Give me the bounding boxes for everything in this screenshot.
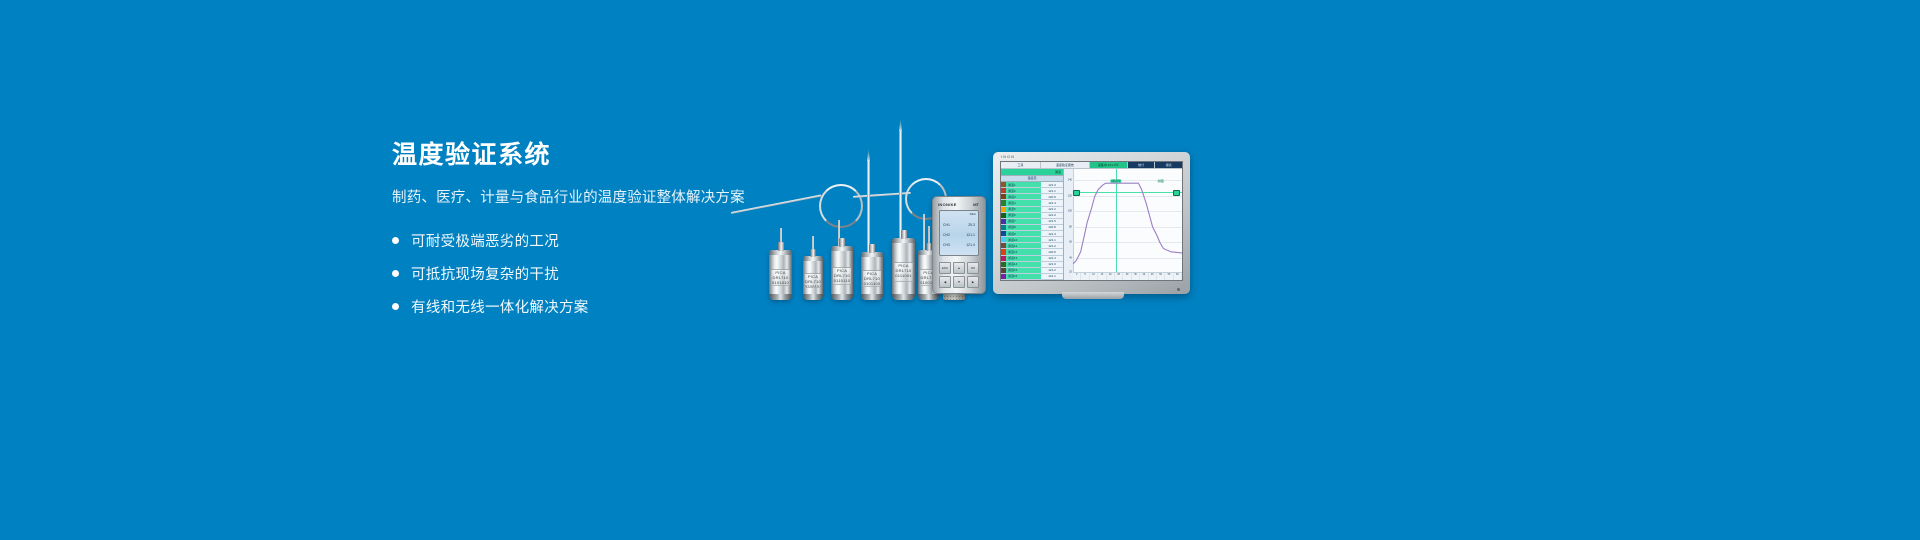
logger-neck bbox=[839, 238, 845, 247]
feature-bullet-label: 可耐受极端恶劣的工况 bbox=[411, 230, 559, 251]
probe-wire bbox=[731, 194, 822, 214]
software-screen: 工具 温度验证报告 采集中-121.0℃ 统计 报表 通道 温度值 通道1121… bbox=[1000, 161, 1183, 281]
logger-neck bbox=[901, 230, 907, 239]
handheld-key-up[interactable]: ▲ bbox=[953, 262, 965, 274]
logger-label: PICA DRL710 0100101 bbox=[805, 273, 821, 288]
channel-name: 通道16 bbox=[1006, 274, 1041, 279]
channel-value: 121.1 bbox=[1041, 274, 1063, 279]
handheld-key-right[interactable]: ▶ bbox=[967, 276, 979, 288]
software-toolbar[interactable]: 工具 温度验证报告 采集中-121.0℃ 统计 报表 bbox=[1001, 162, 1182, 169]
monitor-display: INON 工具 温度验证报告 采集中-121.0℃ 统计 报表 通道 温度值 通… bbox=[993, 152, 1190, 294]
handheld-brand: INONIKE bbox=[938, 202, 957, 207]
bullet-dot-icon bbox=[392, 303, 399, 310]
handheld-row-left: CH1 bbox=[943, 223, 950, 227]
channel-name: 通道1 bbox=[1006, 182, 1041, 187]
channel-value: 121.0 bbox=[1041, 262, 1063, 267]
x-tick-label: 10 bbox=[1090, 273, 1098, 280]
software-body: 通道 温度值 通道1121.3 通道2121.1 通道3120.9 通道4121… bbox=[1001, 169, 1182, 280]
y-tick-label: 100 bbox=[1068, 210, 1072, 213]
x-tick-label: 25 bbox=[1115, 273, 1123, 280]
feature-bullet-3: 有线和无线一体化解决方案 bbox=[392, 296, 772, 317]
logger-neck bbox=[926, 243, 931, 251]
channel-value: 121.1 bbox=[1041, 237, 1063, 242]
y-tick-label: 140 bbox=[1068, 179, 1072, 182]
channel-value: 121.2 bbox=[1041, 207, 1063, 212]
channel-name: 通道13 bbox=[1006, 256, 1041, 261]
channel-name: 通道4 bbox=[1006, 200, 1041, 205]
x-tick-label: 5 bbox=[1081, 273, 1089, 280]
logger-label: PICA DRL710 0111001 bbox=[894, 262, 913, 283]
probe-coil-1 bbox=[819, 184, 863, 228]
y-tick-label: 120 bbox=[1068, 194, 1072, 197]
bullet-dot-icon bbox=[392, 270, 399, 277]
toolbar-item-tools[interactable]: 工具 bbox=[1001, 162, 1041, 168]
logger-stem bbox=[928, 226, 930, 244]
channel-value: 121.5 bbox=[1041, 219, 1063, 224]
handheld-key-left[interactable]: ◀ bbox=[939, 276, 951, 288]
x-tick-label: 60 bbox=[1174, 273, 1182, 280]
handheld-screen-header: REC bbox=[970, 212, 976, 216]
logger-neck bbox=[869, 244, 875, 253]
handheld-keypad[interactable]: ESC ▲ OK ◀ ▼ ▶ bbox=[939, 262, 979, 288]
channel-name: 通道15 bbox=[1006, 268, 1041, 273]
logger-stem bbox=[812, 236, 814, 250]
handheld-reader[interactable]: INONIKE MT REC CH1 25.3 CH2 121.1 CH3 12… bbox=[932, 196, 986, 294]
channel-value: 121.0 bbox=[1041, 213, 1063, 218]
feature-bullet-label: 可抵抗现场复杂的干扰 bbox=[411, 263, 559, 284]
channel-name: 通道5 bbox=[1006, 207, 1041, 212]
handheld-row-right: 25.3 bbox=[968, 223, 975, 227]
x-tick-label: 30 bbox=[1123, 273, 1131, 280]
handheld-key-esc[interactable]: ESC bbox=[939, 262, 951, 274]
status-badge: 采集中-121.0℃ bbox=[1090, 162, 1128, 168]
y-tick-label: 60 bbox=[1069, 241, 1072, 244]
x-tick-label: 50 bbox=[1157, 273, 1165, 280]
channel-name: 通道6 bbox=[1006, 213, 1041, 218]
x-tick-label: 35 bbox=[1132, 273, 1140, 280]
handheld-key-down[interactable]: ▼ bbox=[953, 276, 965, 288]
monitor-brand: INON bbox=[1001, 154, 1015, 159]
hero-banner: 温度验证系统 制药、医疗、计量与食品行业的温度验证整体解决方案 可耐受极端恶劣的… bbox=[0, 0, 1920, 540]
handheld-screen-row: CH1 25.3 bbox=[943, 223, 975, 227]
channel-name: 通道3 bbox=[1006, 194, 1041, 199]
handheld-row-right: 121.4 bbox=[966, 243, 975, 247]
channel-name: 通道12 bbox=[1006, 249, 1041, 254]
power-led-icon bbox=[1177, 288, 1180, 291]
temperature-chart[interactable]: 140 120 100 80 60 40 20 bbox=[1064, 169, 1182, 280]
channel-name: 通道11 bbox=[1006, 243, 1041, 248]
handheld-row-right: 121.1 bbox=[966, 233, 975, 237]
channel-value: 121.3 bbox=[1041, 231, 1063, 236]
channel-value: 121.4 bbox=[1041, 200, 1063, 205]
x-tick-label: 20 bbox=[1107, 273, 1115, 280]
toolbar-item-report[interactable]: 温度验证报告 bbox=[1041, 162, 1090, 168]
x-tick-label: 15 bbox=[1098, 273, 1106, 280]
channel-name: 通道9 bbox=[1006, 231, 1041, 236]
channel-value: 121.4 bbox=[1041, 256, 1063, 261]
page-title: 温度验证系统 bbox=[392, 140, 772, 170]
y-tick-label: 20 bbox=[1069, 271, 1072, 274]
channel-value: 121.2 bbox=[1041, 243, 1063, 248]
feature-bullet-1: 可耐受极端恶劣的工况 bbox=[392, 230, 772, 251]
channel-value: 120.9 bbox=[1041, 249, 1063, 254]
handheld-screen: REC CH1 25.3 CH2 121.1 CH3 121.4 bbox=[939, 210, 979, 256]
chart-x-axis: 0 5 10 15 20 25 30 35 40 45 50 55 60 bbox=[1073, 272, 1182, 280]
feature-bullet-label: 有线和无线一体化解决方案 bbox=[411, 296, 589, 317]
handheld-screen-row: CH2 121.1 bbox=[943, 233, 975, 237]
x-tick-label: 45 bbox=[1149, 273, 1157, 280]
probe-wire bbox=[853, 192, 911, 198]
channel-name: 通道7 bbox=[1006, 219, 1041, 224]
channel-name: 通道14 bbox=[1006, 262, 1041, 267]
channel-value: 121.2 bbox=[1041, 268, 1063, 273]
channel-name: 通道10 bbox=[1006, 237, 1041, 242]
logger-neck bbox=[778, 242, 784, 251]
bullet-dot-icon bbox=[392, 237, 399, 244]
x-tick-label: 40 bbox=[1140, 273, 1148, 280]
toolbar-item-table[interactable]: 报表 bbox=[1155, 162, 1182, 168]
channel-name: 通道8 bbox=[1006, 225, 1041, 230]
series-line-sterilization bbox=[1073, 183, 1182, 264]
x-tick-label: 0 bbox=[1073, 273, 1081, 280]
data-logger: PICA DRL710 0111001 bbox=[892, 238, 915, 300]
y-tick-label: 80 bbox=[1069, 225, 1072, 228]
channel-value: 120.8 bbox=[1041, 225, 1063, 230]
handheld-row-left: CH3 bbox=[943, 243, 950, 247]
logger-label: PICA DRL710 0101010 bbox=[771, 269, 790, 286]
chart-curve bbox=[1073, 169, 1182, 278]
data-logger: PICA DRL710 0110110 bbox=[831, 246, 853, 300]
banner-copy: 温度验证系统 制药、医疗、计量与食品行业的温度验证整体解决方案 可耐受极端恶劣的… bbox=[392, 140, 772, 329]
channel-value: 121.3 bbox=[1041, 182, 1063, 187]
logger-neck bbox=[811, 249, 816, 257]
channel-name: 通道2 bbox=[1006, 188, 1041, 193]
y-tick-label: 40 bbox=[1069, 256, 1072, 259]
feature-bullet-2: 可抵抗现场复杂的干扰 bbox=[392, 263, 772, 284]
logger-stem bbox=[780, 228, 782, 243]
handheld-key-ok[interactable]: OK bbox=[967, 262, 979, 274]
toolbar-item-stats[interactable]: 统计 bbox=[1128, 162, 1156, 168]
x-tick-label: 55 bbox=[1165, 273, 1173, 280]
handheld-row-left: CH2 bbox=[943, 233, 950, 237]
logger-label: PICA DRL710 0110110 bbox=[833, 267, 851, 285]
monitor-stand bbox=[1062, 292, 1124, 299]
data-logger: PICA DRL710 0100101 bbox=[803, 256, 823, 300]
data-logger: PICA DRL710 0101100 bbox=[861, 252, 883, 300]
data-logger: PICA DRL710 0101010 bbox=[769, 250, 792, 300]
handheld-model: MT bbox=[973, 202, 979, 207]
handheld-screen-row: CH3 121.4 bbox=[943, 243, 975, 247]
logger-label: PICA DRL710 0101100 bbox=[863, 270, 881, 286]
channel-table[interactable]: 通道 温度值 通道1121.3 通道2121.1 通道3120.9 通道4121… bbox=[1001, 169, 1064, 280]
table-row[interactable]: 通道16121.1 bbox=[1001, 274, 1063, 280]
channel-value: 121.1 bbox=[1041, 188, 1063, 193]
channel-value: 120.9 bbox=[1041, 194, 1063, 199]
banner-subtitle: 制药、医疗、计量与食品行业的温度验证整体解决方案 bbox=[392, 188, 772, 208]
